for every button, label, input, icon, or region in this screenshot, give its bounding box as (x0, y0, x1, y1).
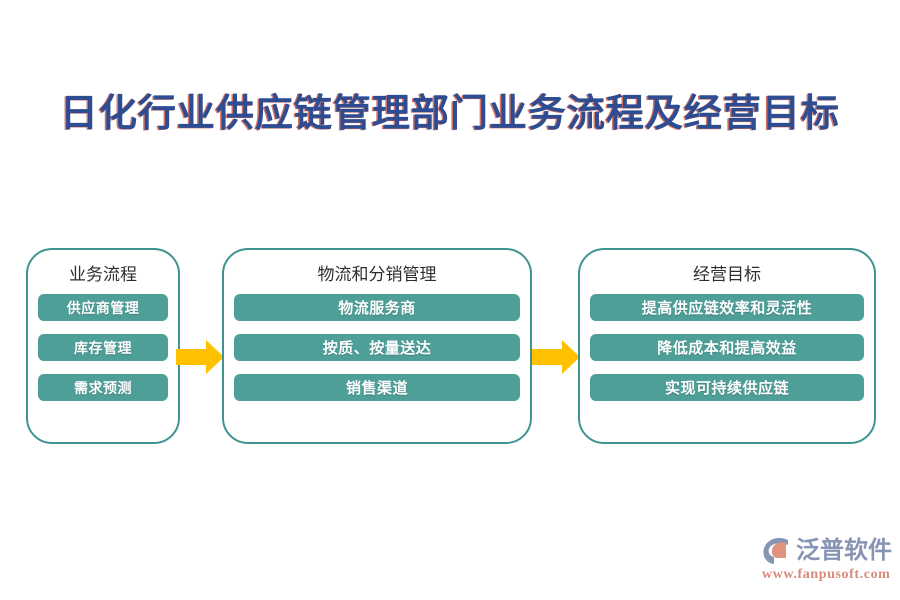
right-arrow-icon (176, 338, 224, 376)
process-card-logistics-distribution: 物流和分销管理 物流服务商 按质、按量送达 销售渠道 (222, 248, 532, 444)
slide-canvas: 日化行业供应链管理部门业务流程及经营目标 业务流程 供应商管理 库存管理 需求预… (0, 0, 900, 600)
logo-url: www.fanpusoft.com (762, 567, 888, 583)
process-card-business-process: 业务流程 供应商管理 库存管理 需求预测 (26, 248, 180, 444)
process-item[interactable]: 库存管理 (38, 334, 168, 361)
process-item[interactable]: 按质、按量送达 (234, 334, 520, 361)
logo-row: 泛普软件 (762, 536, 888, 566)
process-item[interactable]: 物流服务商 (234, 294, 520, 321)
process-item[interactable]: 销售渠道 (234, 374, 520, 401)
process-item[interactable]: 需求预测 (38, 374, 168, 401)
pill-stack: 物流服务商 按质、按量送达 销售渠道 (234, 294, 520, 401)
brand-logo: 泛普软件 www.fanpusoft.com (762, 536, 888, 586)
card-title: 业务流程 (28, 260, 178, 285)
pill-stack: 供应商管理 库存管理 需求预测 (38, 294, 168, 401)
process-item[interactable]: 降低成本和提高效益 (590, 334, 864, 361)
process-item[interactable]: 供应商管理 (38, 294, 168, 321)
logo-wordmark: 泛普软件 (796, 537, 892, 565)
page-title: 日化行业供应链管理部门业务流程及经营目标 (0, 82, 900, 137)
process-item[interactable]: 提高供应链效率和灵活性 (590, 294, 864, 321)
process-item[interactable]: 实现可持续供应链 (590, 374, 864, 401)
pill-stack: 提高供应链效率和灵活性 降低成本和提高效益 实现可持续供应链 (590, 294, 864, 401)
right-arrow-icon (532, 338, 580, 376)
process-card-business-goals: 经营目标 提高供应链效率和灵活性 降低成本和提高效益 实现可持续供应链 (578, 248, 876, 444)
fanpu-c-mark-icon (762, 537, 792, 565)
card-title: 物流和分销管理 (224, 260, 530, 285)
card-title: 经营目标 (580, 260, 874, 285)
